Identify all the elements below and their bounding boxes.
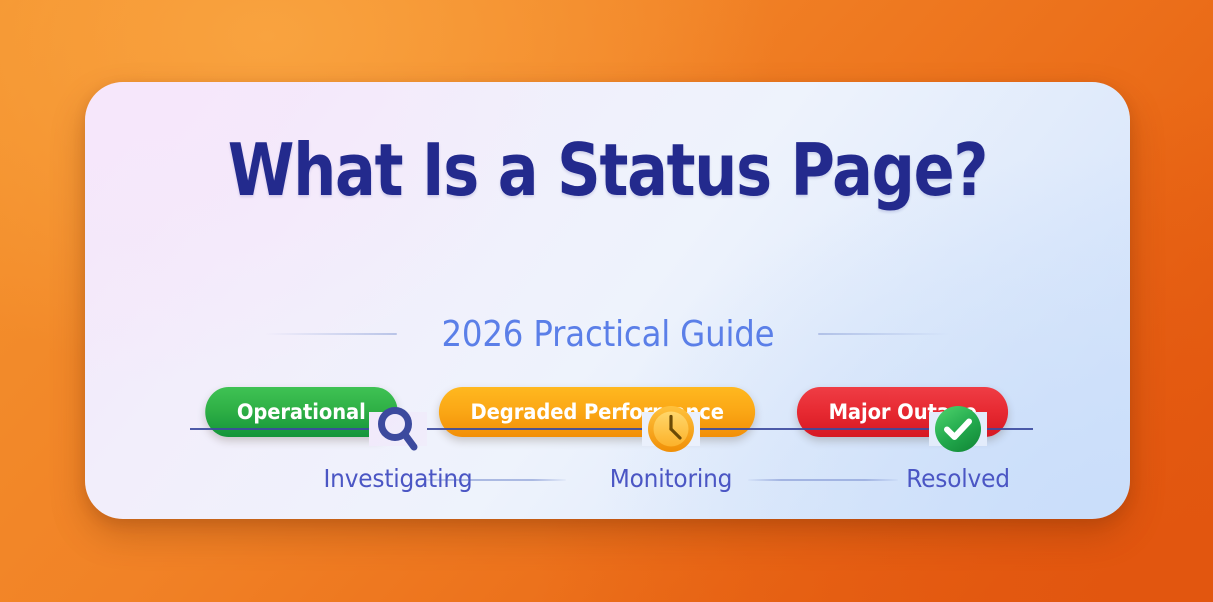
magnifying-glass-icon [371, 402, 425, 456]
incident-timeline: Investigating [188, 400, 1035, 510]
timeline-step-icon-wrap [853, 400, 1063, 458]
clock-icon [646, 404, 696, 454]
status-page-card: What Is a Status Page? 2026 Practical Gu… [85, 82, 1130, 519]
timeline-step-investigating[interactable]: Investigating [293, 400, 503, 493]
timeline-step-label: Resolved [860, 464, 1055, 493]
check-circle-icon [933, 404, 983, 454]
timeline-step-icon-wrap [293, 400, 503, 458]
subtitle-rule-left [265, 333, 397, 335]
page-title: What Is a Status Page? [169, 134, 1047, 206]
timeline-step-monitoring[interactable]: Monitoring [566, 400, 776, 493]
timeline-step-resolved[interactable]: Resolved [853, 400, 1063, 493]
poster-canvas: What Is a Status Page? 2026 Practical Gu… [0, 0, 1213, 602]
timeline-step-label: Monitoring [573, 464, 768, 493]
timeline-step-icon-wrap [566, 400, 776, 458]
subtitle-row: 2026 Practical Guide [85, 310, 1130, 358]
page-subtitle: 2026 Practical Guide [441, 314, 774, 355]
timeline-step-label: Investigating [300, 464, 495, 493]
subtitle-rule-right [818, 333, 950, 335]
